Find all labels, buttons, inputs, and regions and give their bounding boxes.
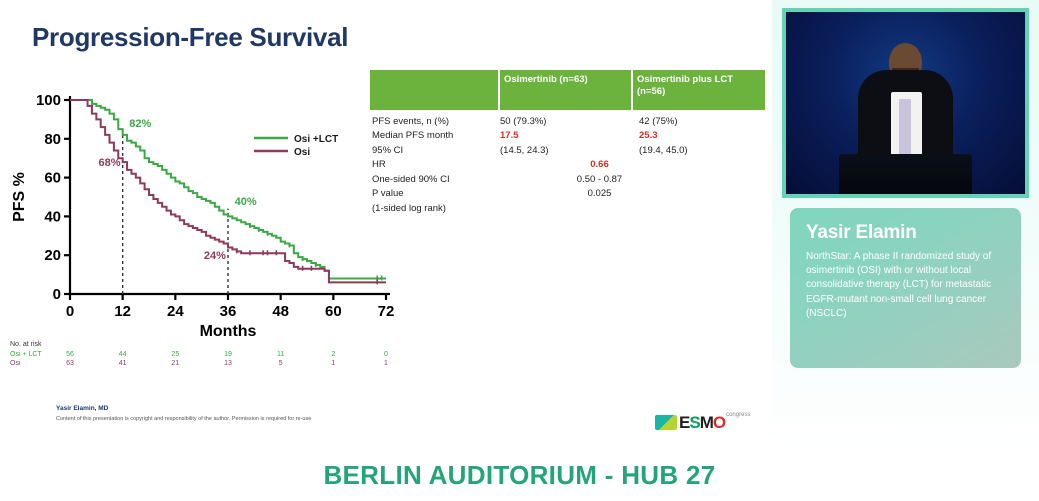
- speaker-panel: Yasir Elamin NorthStar: A phase II rando…: [772, 0, 1039, 450]
- risk-value: 21: [171, 359, 179, 368]
- speaker-name: Yasir Elamin: [806, 222, 1005, 244]
- row-value-osimertinib-lct: 42 (75%): [633, 115, 765, 129]
- speaker-tie: [899, 99, 911, 161]
- y-axis-title: PFS %: [11, 172, 28, 222]
- table-row: P value0.025: [370, 187, 765, 201]
- x-tick-label: 72: [378, 303, 395, 320]
- esmo-congress-label: congress: [726, 412, 750, 418]
- curve-annotation: 24%: [204, 250, 226, 262]
- y-tick-label: 60: [44, 170, 61, 187]
- speaker-video-frame: [786, 12, 1025, 194]
- row-value-osimertinib: 50 (79.3%): [500, 115, 633, 129]
- slide-footer: Yasir Elamin, MD Content of this present…: [56, 405, 676, 422]
- risk-value: 1: [384, 359, 388, 368]
- esmo-mark-icon: [655, 415, 677, 430]
- kaplan-meier-chart: 0204060801000122436486072MonthsPFS %82%6…: [8, 82, 408, 342]
- x-axis-title: Months: [200, 323, 257, 340]
- chart-svg: 0204060801000122436486072MonthsPFS %82%6…: [8, 82, 408, 342]
- y-tick-label: 20: [44, 247, 61, 264]
- risk-value: 1: [331, 359, 335, 368]
- row-label: HR: [370, 158, 500, 172]
- table-row: One-sided 90% CI0.50 - 0.87: [370, 173, 765, 187]
- legend-label-1: Osi: [294, 147, 310, 158]
- legend-label-0: Osi +LCT: [294, 134, 338, 145]
- row-label: Median PFS month: [370, 129, 500, 143]
- row-value-osimertinib-lct: (19.4, 45.0): [633, 144, 765, 158]
- row-value-shared: 0.50 - 0.87: [500, 173, 765, 187]
- slide-canvas: Progression-Free Survival 02040608010001…: [0, 0, 772, 450]
- esmo-congress-logo: ESMO congress: [655, 410, 750, 434]
- row-value-osimertinib: (14.5, 24.3): [500, 144, 633, 158]
- x-tick-label: 36: [220, 303, 237, 320]
- row-value-shared: 0.025: [500, 187, 765, 201]
- curve-annotation: 82%: [129, 118, 151, 130]
- y-tick-label: 40: [44, 208, 61, 225]
- row-label: One-sided 90% CI: [370, 173, 500, 187]
- risk-row: Osi63412113511: [8, 359, 408, 368]
- results-header-osimertinib-lct: Osimertinib plus LCT (n=56): [633, 70, 765, 110]
- risk-row: Osi + LCT564425191120: [8, 350, 408, 359]
- x-tick-label: 60: [325, 303, 342, 320]
- table-row: PFS events, n (%)50 (79.3%)42 (75%): [370, 115, 765, 129]
- x-tick-label: 24: [167, 303, 184, 320]
- curve-annotation: 40%: [235, 196, 257, 208]
- row-value-shared: 0.66: [500, 158, 765, 172]
- row-value-osimertinib-lct: 25.3: [633, 129, 765, 143]
- esmo-letter-o: O: [713, 413, 725, 432]
- results-table: Osimertinib (n=63) Osimertinib plus LCT …: [370, 70, 765, 216]
- table-row: 95% CI(14.5, 24.3)(19.4, 45.0): [370, 144, 765, 158]
- row-label: PFS events, n (%): [370, 115, 500, 129]
- location-banner: BERLIN AUDITORIUM - HUB 27: [0, 450, 1039, 501]
- risk-value: 13: [224, 359, 232, 368]
- risk-rows: Osi + LCT564425191120Osi63412113511: [8, 350, 408, 368]
- esmo-letter-m: M: [700, 413, 713, 432]
- risk-value: 63: [66, 359, 74, 368]
- esmo-wordmark: ESMO: [679, 414, 725, 431]
- x-tick-label: 12: [114, 303, 131, 320]
- x-tick-label: 48: [272, 303, 289, 320]
- row-label: 95% CI: [370, 144, 500, 158]
- esmo-letter-s: S: [689, 413, 699, 432]
- risk-row-label: Osi: [8, 359, 52, 368]
- location-banner-text: BERLIN AUDITORIUM - HUB 27: [323, 460, 715, 491]
- row-label: P value: [370, 187, 500, 201]
- curve-annotation: 68%: [99, 157, 121, 169]
- y-tick-label: 100: [36, 92, 61, 109]
- risk-value: 41: [119, 359, 127, 368]
- table-row: HR0.66: [370, 158, 765, 172]
- risk-caption: No. at risk: [8, 340, 408, 349]
- podium: [839, 154, 973, 194]
- row-label: (1-sided log rank): [370, 202, 500, 216]
- number-at-risk-table: No. at risk Osi + LCT564425191120Osi6341…: [8, 340, 408, 368]
- y-tick-label: 0: [53, 286, 61, 303]
- page-title: Progression-Free Survival: [32, 22, 348, 53]
- results-header-blank: [370, 70, 500, 110]
- speaker-video-player[interactable]: [782, 8, 1029, 198]
- y-tick-label: 80: [44, 131, 61, 148]
- x-tick-label: 0: [66, 303, 74, 320]
- footer-copyright-note: Content of this presentation is copyrigh…: [56, 416, 676, 422]
- results-table-header: Osimertinib (n=63) Osimertinib plus LCT …: [370, 70, 765, 110]
- presentation-viewer: Progression-Free Survival 02040608010001…: [0, 0, 1039, 501]
- speaker-info-card: Yasir Elamin NorthStar: A phase II rando…: [790, 208, 1021, 368]
- results-table-body: PFS events, n (%)50 (79.3%)42 (75%)Media…: [370, 110, 765, 216]
- risk-row-values: 564425191120: [52, 350, 408, 359]
- row-value-shared: [500, 202, 765, 216]
- footer-author: Yasir Elamin, MD: [56, 405, 676, 412]
- risk-value: 5: [279, 359, 283, 368]
- row-value-osimertinib: 17.5: [500, 129, 633, 143]
- results-header-osimertinib: Osimertinib (n=63): [500, 70, 633, 110]
- table-row: (1-sided log rank): [370, 202, 765, 216]
- table-row: Median PFS month17.525.3: [370, 129, 765, 143]
- speaker-talk-title: NorthStar: A phase II randomized study o…: [806, 250, 1005, 321]
- esmo-letter-e: E: [679, 413, 689, 432]
- risk-row-values: 63412113511: [52, 359, 408, 368]
